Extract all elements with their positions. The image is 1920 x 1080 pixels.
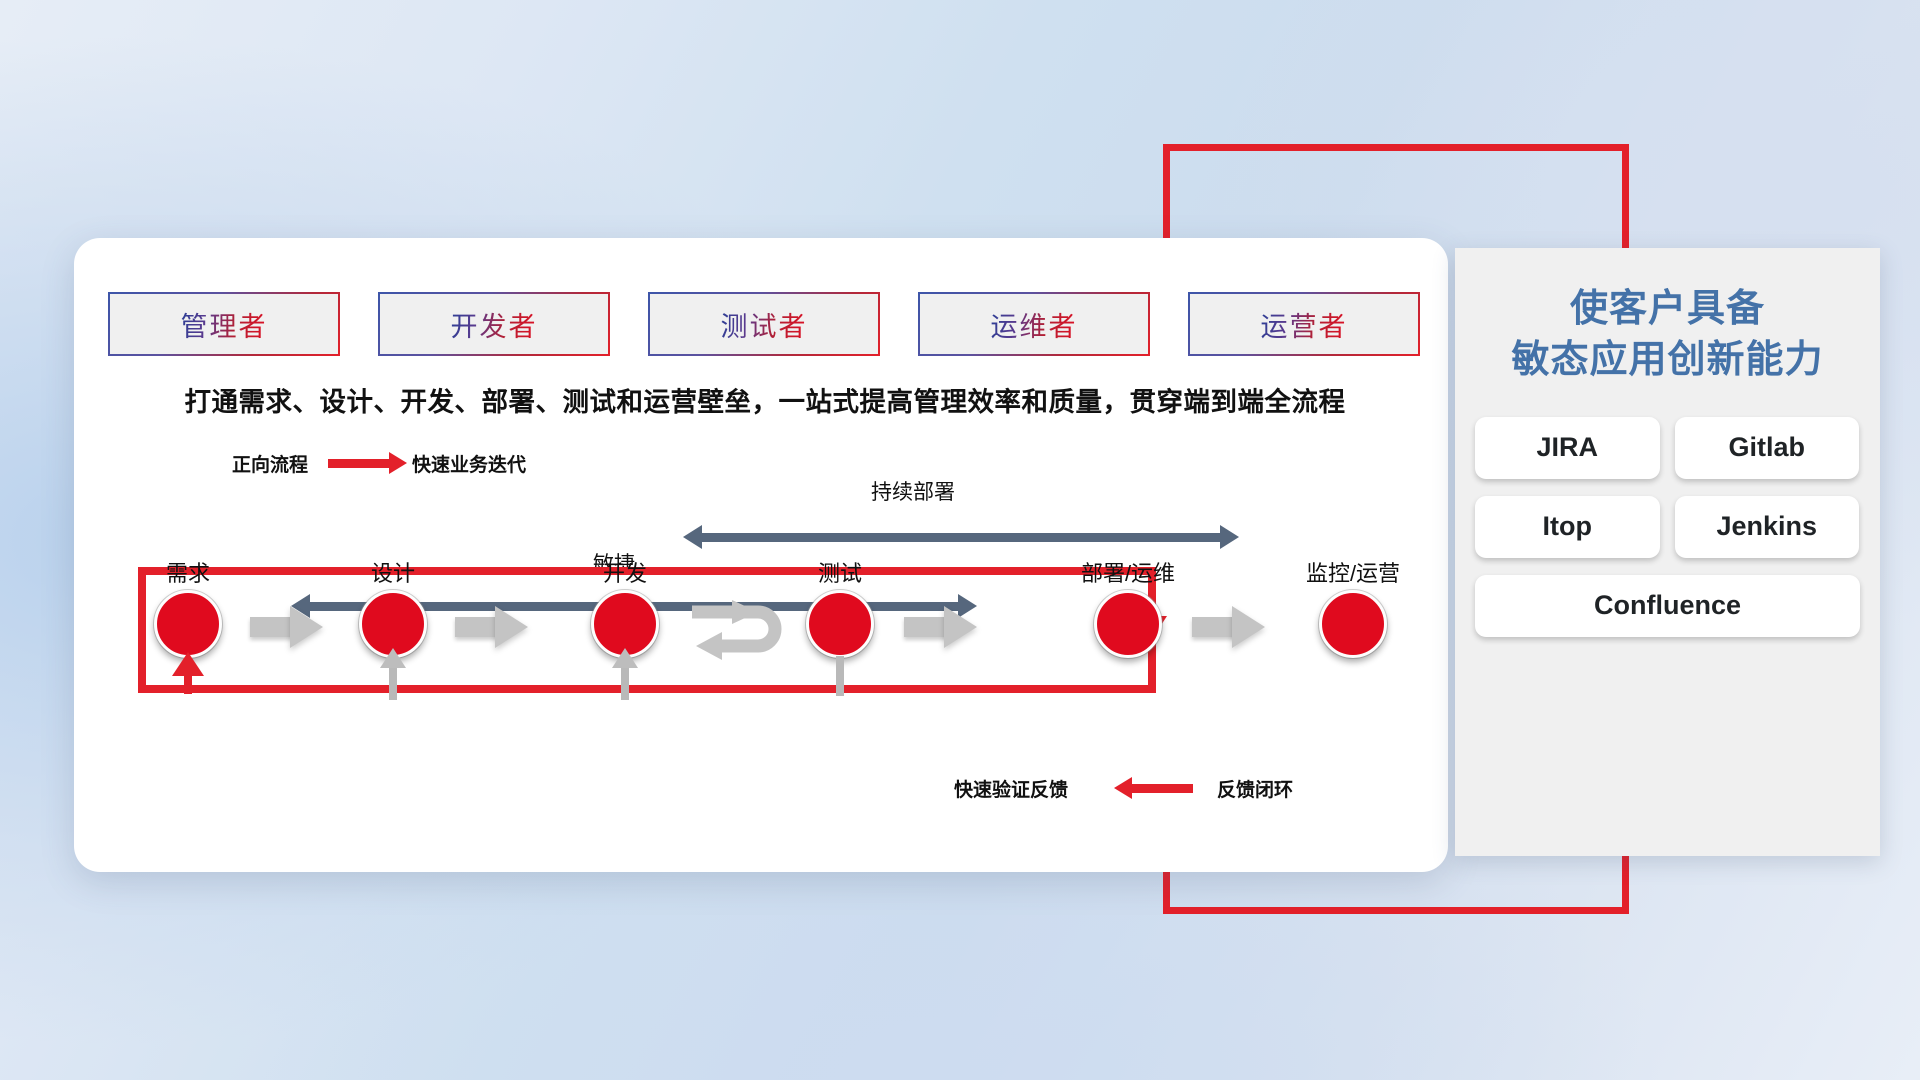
feedback-left-label: 快速验证反馈 (954, 775, 1068, 802)
role-box-developer[interactable]: 开发者 (378, 292, 610, 356)
outer-bracket-top (1163, 144, 1629, 151)
arrow-shaft (455, 617, 499, 637)
tool-jira[interactable]: JIRA (1475, 417, 1660, 479)
continuous-deploy-label: 持续部署 (871, 476, 955, 506)
forward-flow-left-label: 正向流程 (232, 450, 308, 477)
role-box-ops[interactable]: 运维者 (918, 292, 1150, 356)
tool-confluence[interactable]: Confluence (1475, 575, 1860, 637)
role-box-tester[interactable]: 测试者 (648, 292, 880, 356)
pipeline-node-test[interactable]: 测试 (806, 590, 874, 658)
forward-flow-right-label: 快速业务迭代 (412, 450, 526, 477)
pipeline-node-deploy-ops[interactable]: 部署/运维 (1094, 590, 1162, 658)
role-label: 开发者 (451, 305, 538, 344)
panel-title-line1: 使客户具备 (1455, 284, 1880, 335)
pipeline-node-dot (1094, 590, 1162, 658)
tool-jenkins[interactable]: Jenkins (1675, 496, 1860, 558)
pipeline-node-dot (1319, 590, 1387, 658)
arrow-head (1232, 606, 1265, 648)
arrow-shaft (904, 617, 948, 637)
pipeline-node-develop[interactable]: 开发 (591, 590, 659, 658)
pipeline-node-dot (806, 590, 874, 658)
pipeline-node-label: 监控/运营 (1306, 556, 1400, 588)
pipeline-node-dot (154, 590, 222, 658)
pipeline-node-stem-arrow-icon (380, 648, 406, 668)
pipeline-node-label: 部署/运维 (1081, 556, 1175, 588)
arrow-head (495, 606, 528, 648)
role-box-operations[interactable]: 运营者 (1188, 292, 1420, 356)
pipeline-node-design[interactable]: 设计 (359, 590, 427, 658)
panel-title: 使客户具备 敏态应用创新能力 (1455, 284, 1880, 387)
arrow-head (944, 606, 977, 648)
pipeline-node-stem-arrow-icon (172, 652, 204, 676)
role-box-manager[interactable]: 管理者 (108, 292, 340, 356)
continuous-deploy-arrow-icon (701, 533, 1221, 542)
role-label: 运营者 (1261, 305, 1348, 344)
forward-flow-arrow-icon (328, 459, 390, 468)
iteration-loop-arrow-icon (688, 598, 798, 660)
pipeline-node-stem-arrow-icon (612, 648, 638, 668)
value-panel: 使客户具备 敏态应用创新能力 JIRA Gitlab Itop Jenkins … (1455, 248, 1880, 856)
role-box-row: 管理者 开发者 测试者 运维者 运营者 (108, 292, 1420, 356)
panel-title-line2: 敏态应用创新能力 (1455, 335, 1880, 386)
arrow-head (290, 606, 323, 648)
pipeline-node-label: 测试 (818, 556, 862, 588)
arrow-shaft (250, 617, 294, 637)
slide-background: 管理者 开发者 测试者 运维者 运营者 打通需求、设计、开发、部署、测试和运营壁… (0, 0, 1920, 1080)
tool-itop[interactable]: Itop (1475, 496, 1660, 558)
role-label: 运维者 (991, 305, 1078, 344)
outer-bracket-bottom (1163, 907, 1629, 914)
pipeline-node-label: 设计 (371, 556, 415, 588)
role-label: 测试者 (721, 305, 808, 344)
tool-gitlab[interactable]: Gitlab (1675, 417, 1860, 479)
feedback-arrow-icon (1131, 784, 1193, 793)
pipeline-node-requirements[interactable]: 需求 (154, 590, 222, 658)
pipeline-arrow-1-icon (250, 606, 322, 648)
feedback-right-label: 反馈闭环 (1217, 775, 1293, 802)
pipeline-arrow-2-icon (455, 606, 527, 648)
loop-bottom-horizontal (138, 685, 1156, 693)
tool-list: JIRA Gitlab Itop Jenkins Confluence (1475, 417, 1860, 637)
pipeline-arrow-4-icon (1192, 606, 1264, 648)
main-card: 管理者 开发者 测试者 运维者 运营者 打通需求、设计、开发、部署、测试和运营壁… (74, 238, 1448, 872)
role-label: 管理者 (181, 305, 268, 344)
headline-text: 打通需求、设计、开发、部署、测试和运营壁垒，一站式提高管理效率和质量，贯穿端到端… (110, 380, 1420, 419)
pipeline-arrow-3-icon (904, 606, 976, 648)
arrow-shaft (1192, 617, 1236, 637)
loop-left-vertical (138, 567, 146, 693)
pipeline-node-monitor-operations[interactable]: 监控/运营 (1319, 590, 1387, 658)
pipeline-node-label: 开发 (603, 556, 647, 588)
pipeline-node-stem (836, 656, 844, 696)
pipeline-node-label: 需求 (166, 556, 210, 588)
